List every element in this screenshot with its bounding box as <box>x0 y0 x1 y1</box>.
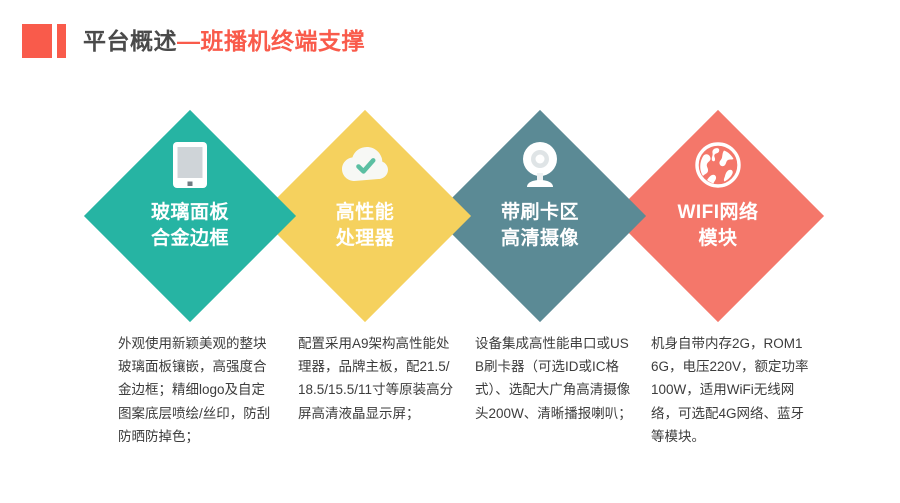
feature-description-glass-panel: 外观使用新颖美观的整块玻璃面板镶嵌，高强度合金边框；精细logo及自定图案底层喷… <box>118 332 276 448</box>
feature-description-row: 外观使用新颖美观的整块玻璃面板镶嵌，高强度合金边框；精细logo及自定图案底层喷… <box>0 332 900 472</box>
slide-header: 平台概述—班播机终端支撑 <box>0 18 900 64</box>
feature-description-wifi: 机身自带内存2G，ROM16G，电压220V，额定功率100W，适用WiFi无线… <box>651 332 809 448</box>
diamond-shape <box>84 110 296 322</box>
feature-description-processor: 配置采用A9架构高性能处理器，品牌主板，配21.5/18.5/15.5/11寸等… <box>298 332 456 425</box>
feature-diamond-row: 玻璃面板 合金边框 高性能 处理器 <box>0 110 900 322</box>
title-accent-bar <box>57 24 66 58</box>
title-accent-square <box>22 24 52 58</box>
page-title-secondary: —班播机终端支撑 <box>177 28 365 54</box>
page-title-primary: 平台概述 <box>83 28 177 54</box>
feature-description-camera: 设备集成高性能串口或USB刷卡器（可选ID或IC格式）、选配大广角高清摄像头20… <box>475 332 633 425</box>
page-title: 平台概述—班播机终端支撑 <box>83 30 365 53</box>
feature-diamond-glass-panel[interactable]: 玻璃面板 合金边框 <box>84 110 296 322</box>
